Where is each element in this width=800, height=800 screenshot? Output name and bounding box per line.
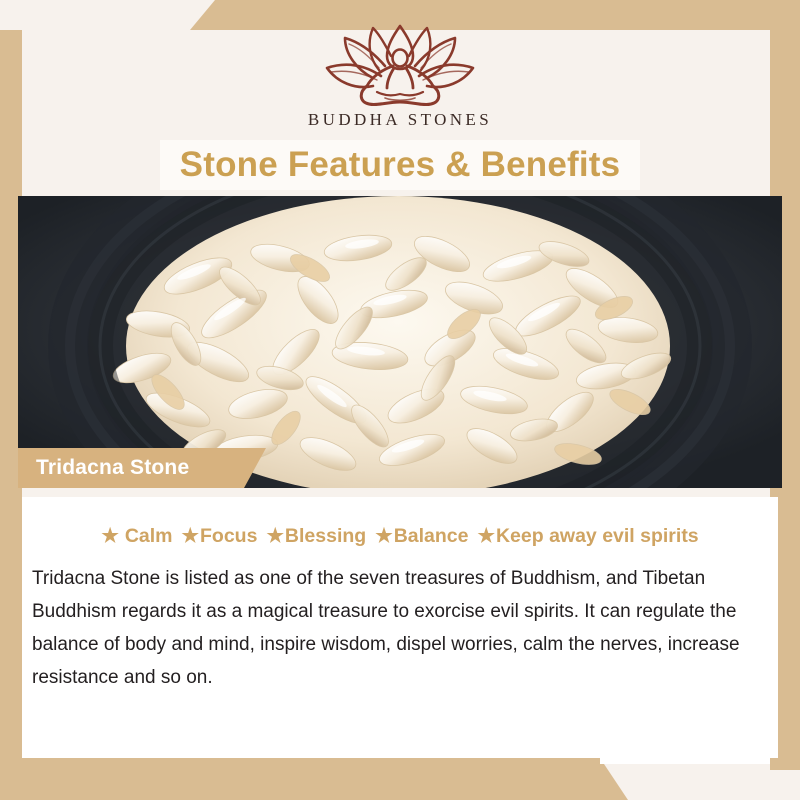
feature-list: ★Calm★Focus★Blessing★Balance★Keep away e… — [22, 524, 778, 548]
feature-item-calm: ★Calm — [101, 524, 172, 548]
star-icon: ★ — [477, 525, 494, 547]
brand-logo: BUDDHA STONES — [0, 22, 800, 130]
feature-item-keep-away-evil-spirits: ★Keep away evil spirits — [477, 524, 698, 548]
brand-name: BUDDHA STONES — [0, 110, 800, 130]
feature-label: Keep away evil spirits — [496, 525, 699, 547]
star-icon: ★ — [182, 525, 199, 547]
feature-label: Balance — [394, 525, 469, 547]
frame-notch — [600, 740, 770, 764]
star-icon: ★ — [375, 525, 392, 547]
description-text: Tridacna Stone is listed as one of the s… — [32, 562, 768, 694]
feature-label: Calm — [125, 525, 173, 547]
lotus-meditation-icon — [0, 22, 800, 108]
product-info-card: BUDDHA STONES Stone Features & Benefits — [0, 0, 800, 800]
feature-item-balance: ★Balance — [375, 524, 468, 548]
feature-label: Focus — [200, 525, 257, 547]
feature-item-blessing: ★Blessing — [266, 524, 366, 548]
feature-label: Blessing — [285, 525, 366, 547]
page-title: Stone Features & Benefits — [0, 141, 800, 189]
star-icon: ★ — [101, 525, 118, 547]
stone-name: Tridacna Stone — [36, 449, 189, 487]
star-icon: ★ — [266, 525, 283, 547]
product-photo — [18, 196, 782, 488]
feature-item-focus: ★Focus — [182, 524, 258, 548]
